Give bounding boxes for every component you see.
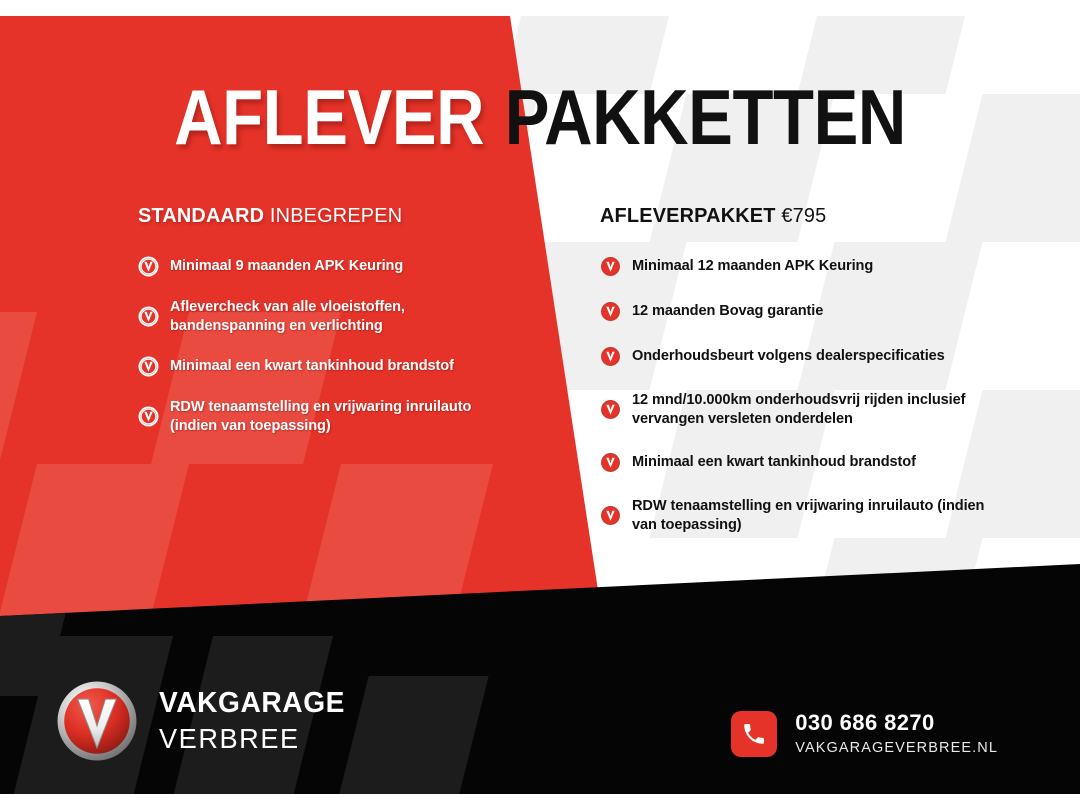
contact-block[interactable]: 030 686 8270 VAKGARAGEVERBREE.NL: [731, 711, 998, 757]
red-flag-square: [0, 312, 37, 464]
afleverpakket-heading: AFLEVERPAKKET €795: [600, 204, 988, 228]
vakgarage-logo-text: VAKGARAGE VERBREE: [159, 689, 351, 753]
page-title: AFLEVERPAKKETTEN: [76, 78, 1005, 156]
phone-icon: [731, 711, 777, 757]
list-item-text: Onderhoudsbeurt volgens dealerspecificat…: [632, 347, 945, 366]
standard-heading-light: INBEGREPEN: [270, 204, 402, 227]
list-item: 12 mnd/10.000km onderhoudsvrij rijden in…: [600, 391, 1000, 428]
list-item-text: Minimaal 12 maanden APK Keuring: [632, 257, 873, 276]
vakgarage-v-icon: [138, 306, 159, 327]
vakgarage-v-icon: [138, 256, 159, 277]
vakgarage-v-icon: [138, 356, 159, 377]
vakgarage-v-icon: [600, 256, 621, 277]
logo-line-two: VERBREE: [159, 725, 345, 753]
list-item-text: Minimaal 9 maanden APK Keuring: [170, 257, 403, 276]
list-item-text: 12 maanden Bovag garantie: [632, 302, 823, 321]
poster-canvas: AFLEVERPAKKETTEN STANDAARD INBEGREPEN Mi…: [0, 16, 1080, 794]
standard-package-heading: STANDAARD INBEGREPEN: [138, 204, 507, 228]
afleverpakket-heading-strong: AFLEVERPAKKET: [600, 204, 776, 227]
vakgarage-v-icon: [600, 452, 621, 473]
list-item: RDW tenaamstelling en vrijwaring inruila…: [600, 497, 1000, 534]
phone-number[interactable]: 030 686 8270: [795, 712, 998, 734]
list-item: Aflevercheck van alle vloeistoffen, band…: [138, 298, 518, 335]
list-item-text: Aflevercheck van alle vloeistoffen, band…: [170, 298, 504, 335]
standard-package-column: STANDAARD INBEGREPEN Minimaal 9 maanden …: [138, 204, 518, 456]
list-item-text: RDW tenaamstelling en vrijwaring inruila…: [170, 398, 504, 435]
red-flag-square: [0, 464, 189, 616]
standard-heading-strong: STANDAARD: [138, 204, 264, 227]
list-item-text: Minimaal een kwart tankinhoud brandstof: [632, 453, 916, 472]
list-item: Minimaal een kwart tankinhoud brandstof: [138, 356, 518, 377]
page-title-black-part: PAKKETTEN: [505, 73, 906, 161]
vakgarage-v-icon: [138, 406, 159, 427]
list-item: RDW tenaamstelling en vrijwaring inruila…: [138, 398, 518, 435]
poster: AFLEVERPAKKETTEN STANDAARD INBEGREPEN Mi…: [0, 0, 1080, 810]
list-item: Minimaal 12 maanden APK Keuring: [600, 256, 1000, 277]
list-item-text: Minimaal een kwart tankinhoud brandstof: [170, 357, 454, 376]
list-item: Minimaal 9 maanden APK Keuring: [138, 256, 518, 277]
vakgarage-v-logo-icon: [55, 679, 139, 763]
vakgarage-v-icon: [600, 346, 621, 367]
afleverpakket-price: €795: [781, 204, 826, 227]
website-url[interactable]: VAKGARAGEVERBREE.NL: [795, 741, 998, 756]
logo-line-one: VAKGARAGE: [159, 689, 345, 718]
list-item: Onderhoudsbeurt volgens dealerspecificat…: [600, 346, 1000, 367]
list-item-text: 12 mnd/10.000km onderhoudsvrij rijden in…: [632, 391, 985, 428]
list-item-text: RDW tenaamstelling en vrijwaring inruila…: [632, 497, 985, 534]
list-item: 12 maanden Bovag garantie: [600, 301, 1000, 322]
page-title-red-part: AFLEVER: [174, 73, 484, 161]
vakgarage-v-icon: [600, 505, 621, 526]
black-flag-square: [331, 676, 488, 794]
vakgarage-logo: VAKGARAGE VERBREE: [55, 679, 351, 763]
red-flag-square: [303, 464, 493, 616]
vakgarage-v-icon: [600, 301, 621, 322]
list-item: Minimaal een kwart tankinhoud brandstof: [600, 452, 1000, 473]
contact-text: 030 686 8270 VAKGARAGEVERBREE.NL: [795, 712, 998, 756]
afleverpakket-column: AFLEVERPAKKET €795 Minimaal 12 maanden A…: [600, 204, 1000, 558]
vakgarage-v-icon: [600, 399, 621, 420]
